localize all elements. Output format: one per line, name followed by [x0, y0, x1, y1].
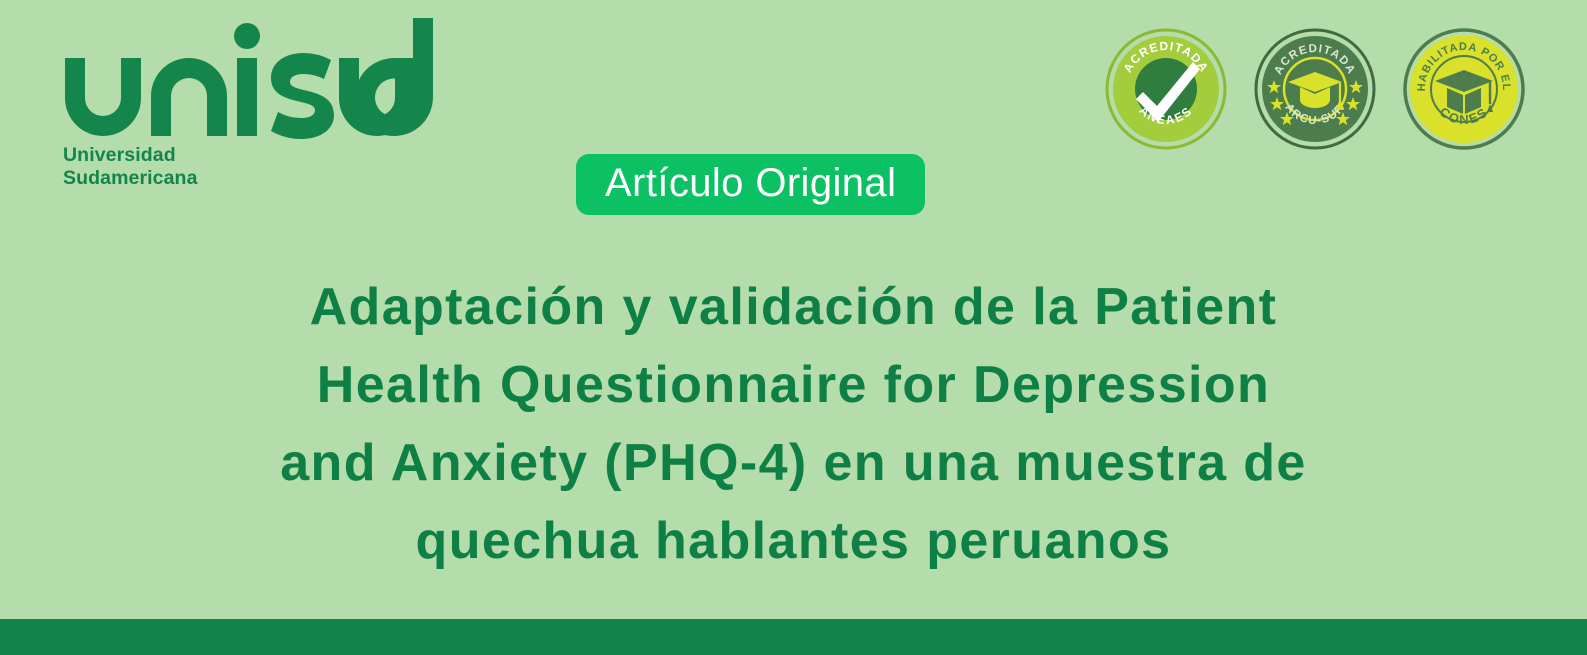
article-type-badge[interactable]: Artículo Original	[576, 154, 925, 215]
article-title-line-4: quechua hablantes peruanos	[90, 502, 1497, 580]
logo-subtitle: Universidad Sudamericana	[63, 144, 463, 190]
seal-cones[interactable]: HABILITADA POR EL CONES	[1403, 28, 1525, 150]
unisud-wordmark-icon	[63, 18, 435, 140]
article-title-line-3: and Anxiety (PHQ-4) en una muestra de	[90, 424, 1497, 502]
accreditation-seals: ACREDITADA ANEAES ACREDITADA ARCU-SUR	[1105, 28, 1525, 150]
seal-aneaes[interactable]: ACREDITADA ANEAES	[1105, 28, 1227, 150]
article-type-label: Artículo Original	[605, 163, 896, 207]
article-title: Adaptación y validación de la Patient He…	[0, 268, 1587, 580]
logo-subtitle-line-2: Sudamericana	[63, 167, 463, 190]
seal-arcu-sur[interactable]: ACREDITADA ARCU-SUR	[1254, 28, 1376, 150]
unisud-logo[interactable]: Universidad Sudamericana	[63, 18, 463, 190]
article-title-line-2: Health Questionnaire for Depression	[90, 346, 1497, 424]
article-title-line-1: Adaptación y validación de la Patient	[90, 268, 1497, 346]
footer-accent-bar	[0, 619, 1587, 655]
article-header-banner: Universidad Sudamericana ACREDITADA ANEA…	[0, 0, 1587, 655]
logo-subtitle-line-1: Universidad	[63, 144, 463, 167]
